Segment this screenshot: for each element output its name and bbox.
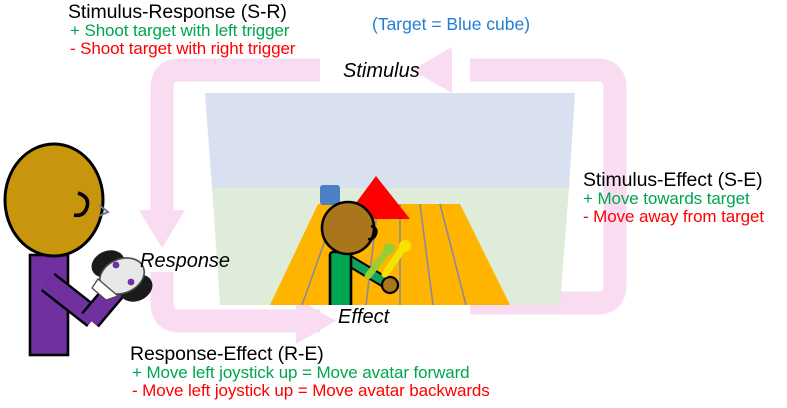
re-negative-line: - Move left joystick up = Move avatar ba… <box>130 382 490 400</box>
stimulus-response-block: Stimulus-Response (S-R) + Shoot target w… <box>68 2 295 58</box>
sr-heading: Stimulus-Response (S-R) <box>68 2 295 22</box>
sr-positive-line: + Shoot target with left trigger <box>68 22 295 40</box>
player-figure <box>5 144 157 355</box>
re-heading: Response-Effect (R-E) <box>130 344 490 364</box>
gamepad-left-stick[interactable] <box>113 262 120 269</box>
se-positive-line: + Move towards target <box>583 190 764 208</box>
gamepad-right-stick[interactable] <box>128 279 135 286</box>
response-effect-block: Response-Effect (R-E) + Move left joysti… <box>130 344 490 400</box>
game-screen <box>205 93 575 307</box>
diagram-canvas: Stimulus-Response (S-R) + Shoot target w… <box>0 0 787 408</box>
se-heading: Stimulus-Effect (S-E) <box>583 170 764 190</box>
sr-negative-line: - Shoot target with right trigger <box>68 40 295 58</box>
cycle-label-stimulus: Stimulus <box>343 60 420 83</box>
game-sky <box>205 93 575 188</box>
se-negative-line: - Move away from target <box>583 208 764 226</box>
target-note: (Target = Blue cube) <box>372 14 530 35</box>
cycle-label-effect: Effect <box>338 306 389 329</box>
blue-cube-target <box>320 185 340 205</box>
response-arrowhead <box>139 210 185 248</box>
re-positive-line: + Move left joystick up = Move avatar fo… <box>130 364 490 382</box>
cycle-label-response: Response <box>140 250 230 273</box>
stimulus-effect-block: Stimulus-Effect (S-E) + Move towards tar… <box>583 170 764 226</box>
